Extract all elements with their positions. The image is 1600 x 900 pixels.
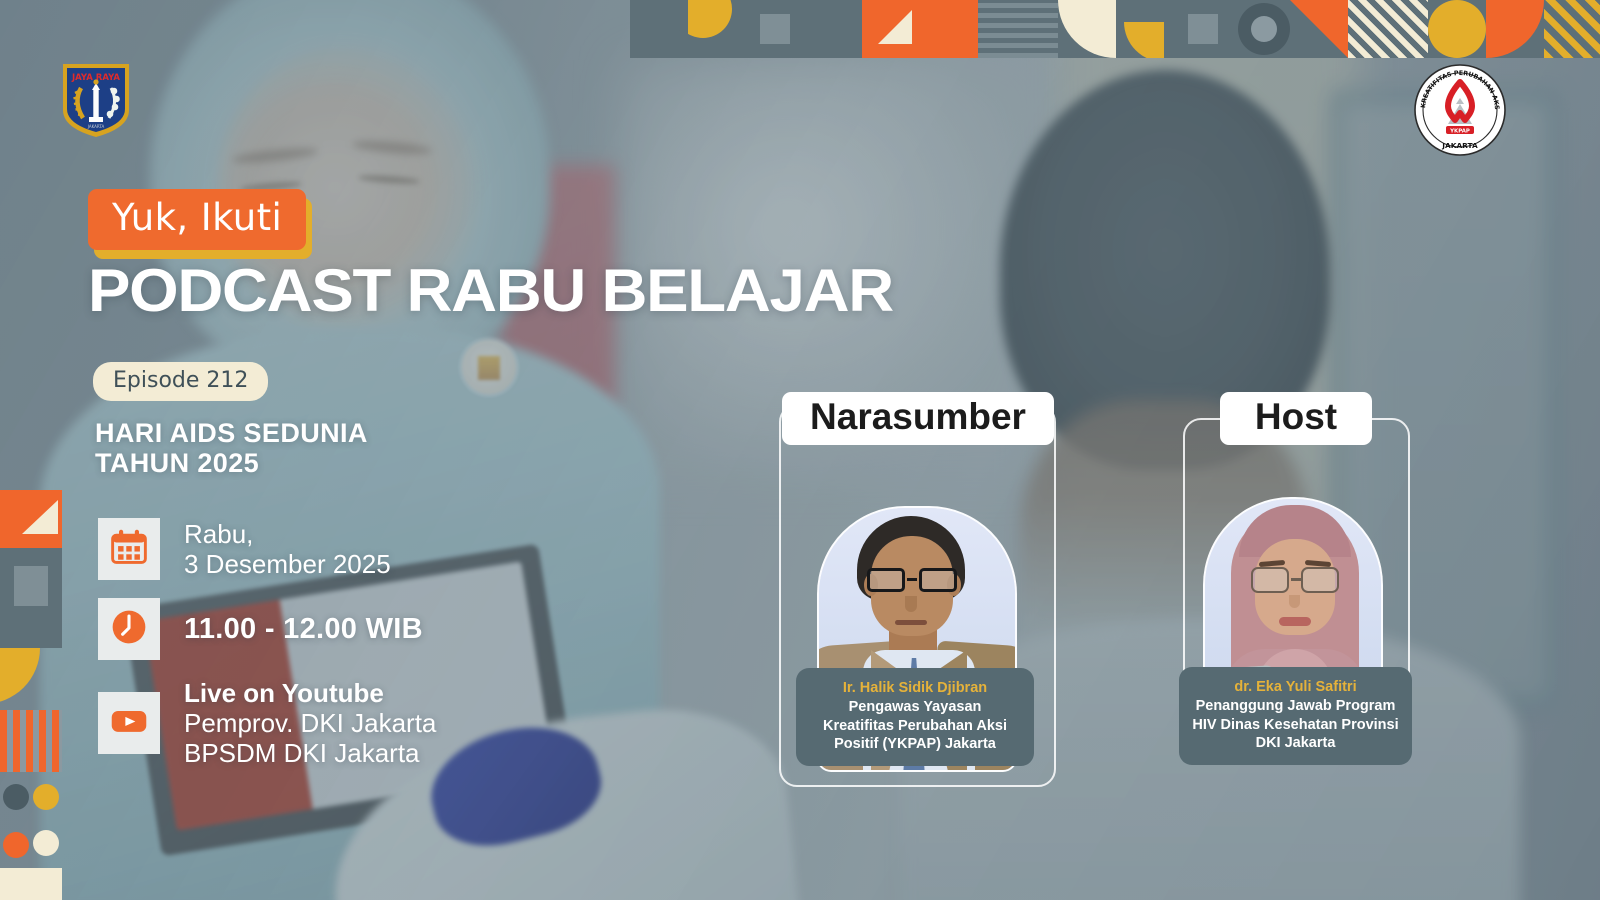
speaker-info-box: Ir. Halik Sidik Djibran Pengawas Yayasan…	[796, 668, 1034, 766]
detail-text-date: Rabu, 3 Desember 2025	[184, 519, 391, 579]
page-title: PODCAST RABU BELAJAR	[88, 261, 893, 321]
detail-row-time: 11.00 - 12.00 WIB	[98, 598, 436, 660]
youtube-line-2: Pemprov. DKI Jakarta	[184, 708, 436, 738]
subtitle-line-2: TAHUN 2025	[95, 448, 368, 478]
speaker-title-line-3: Positif (YKPAP) Jakarta	[806, 735, 1024, 753]
detail-text-youtube: Live on Youtube Pemprov. DKI Jakarta BPS…	[184, 678, 436, 768]
time-line: 11.00 - 12.00 WIB	[184, 613, 423, 646]
subtitle: HARI AIDS SEDUNIA TAHUN 2025	[95, 418, 368, 478]
svg-text:JAKARTA: JAKARTA	[87, 124, 105, 129]
speaker-role-chip: Narasumber	[782, 392, 1054, 445]
date-line-1: Rabu,	[184, 519, 391, 549]
date-line-2: 3 Desember 2025	[184, 549, 391, 579]
detail-row-date: Rabu, 3 Desember 2025	[98, 518, 436, 580]
host-role-chip: Host	[1220, 392, 1372, 445]
calendar-icon-tile	[98, 518, 160, 580]
host-title-line-2: HIV Dinas Kesehatan Provinsi	[1189, 716, 1402, 734]
episode-badge: Episode 212	[93, 362, 268, 401]
host-info-box: dr. Eka Yuli Safitri Penanggung Jawab Pr…	[1179, 667, 1412, 765]
ykpap-logo: YAYASAN KREATIFITAS PERUBAHAN AKSI POSIT…	[1412, 62, 1508, 158]
speaker-title-line-1: Pengawas Yayasan	[806, 698, 1024, 716]
cta-badge: Yuk, Ikuti	[88, 189, 306, 250]
youtube-line-3: BPSDM DKI Jakarta	[184, 738, 436, 768]
svg-text:JAKARTA: JAKARTA	[1441, 141, 1478, 150]
jakarta-emblem-logo: JAYA RAYA JAKARTA	[55, 58, 137, 140]
detail-row-youtube: Live on Youtube Pemprov. DKI Jakarta BPS…	[98, 678, 436, 768]
host-title-line-1: Penanggung Jawab Program	[1189, 697, 1402, 715]
speaker-title-line-2: Kreatifitas Perubahan Aksi	[806, 717, 1024, 735]
event-details-list: Rabu, 3 Desember 2025 11.00 - 12.00 WIB	[98, 518, 436, 786]
youtube-icon-tile	[98, 692, 160, 754]
youtube-line-1: Live on Youtube	[184, 678, 436, 708]
host-name: dr. Eka Yuli Safitri	[1189, 678, 1402, 696]
clock-icon	[109, 607, 149, 652]
top-decorative-pattern	[630, 0, 1600, 58]
clock-icon-tile	[98, 598, 160, 660]
speaker-name: Ir. Halik Sidik Djibran	[806, 679, 1024, 697]
detail-text-time: 11.00 - 12.00 WIB	[184, 613, 423, 646]
poster-canvas: JAYA RAYA JAKARTA YAYASAN KREATIFITAS PE…	[0, 0, 1600, 900]
host-title-line-3: DKI Jakarta	[1189, 734, 1402, 752]
calendar-icon	[109, 527, 149, 572]
youtube-icon	[109, 701, 149, 746]
svg-text:YKPAP: YKPAP	[1449, 128, 1470, 134]
subtitle-line-1: HARI AIDS SEDUNIA	[95, 418, 368, 448]
left-decorative-pattern	[0, 490, 62, 900]
